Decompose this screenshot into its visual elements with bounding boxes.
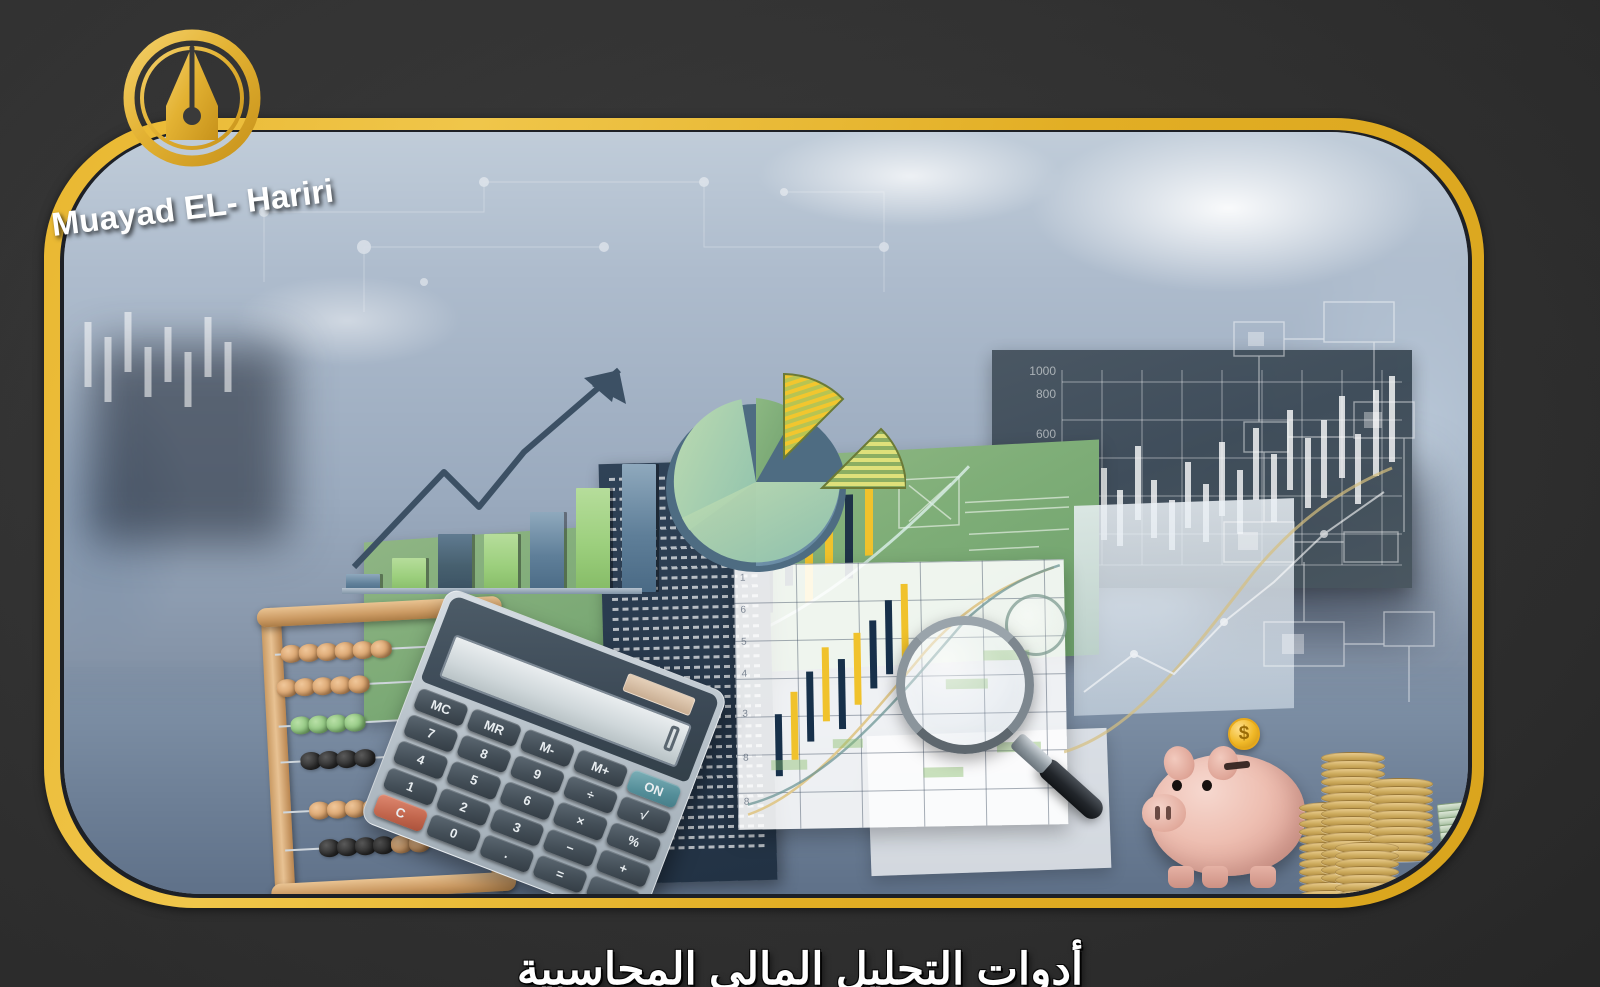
fountain-pen-nib-icon [122, 28, 262, 168]
svg-text:5: 5 [741, 637, 747, 648]
svg-text:6: 6 [740, 605, 746, 616]
piggy-leg-front [1168, 866, 1194, 888]
svg-text:1000: 1000 [1029, 364, 1056, 378]
abacus-frame-bottom [271, 871, 517, 894]
piggy-bank: $ [1146, 732, 1321, 894]
svg-text:8: 8 [743, 753, 749, 764]
page-title: أدوات التحليل المالي المحاسبية [0, 944, 1600, 987]
piggy-leg-back [1250, 866, 1276, 888]
brand-name: Muayad EL- Hariri [49, 150, 510, 244]
coin-stack-4 [1335, 846, 1399, 894]
svg-text:800: 800 [1036, 387, 1056, 401]
svg-text:4: 4 [742, 669, 748, 680]
magnifier-lens [896, 616, 1034, 754]
svg-text:600: 600 [1036, 427, 1056, 441]
brand-block: Muayad EL- Hariri [112, 28, 472, 258]
svg-text:8: 8 [744, 797, 750, 808]
dollar-coin-icon: $ [1228, 718, 1260, 750]
svg-text:3: 3 [742, 709, 748, 720]
poster-canvas: 1000800 600500 [0, 0, 1600, 987]
hud-ghost-candles [74, 302, 304, 422]
piggy-eye-left [1172, 780, 1182, 791]
pie-chart [656, 360, 906, 578]
coin-stack-5 [1399, 878, 1463, 894]
piggy-snout [1142, 794, 1186, 832]
piggy-leg-mid [1202, 866, 1228, 888]
piggy-eye-right [1202, 780, 1212, 791]
trend-arrow [334, 352, 644, 597]
